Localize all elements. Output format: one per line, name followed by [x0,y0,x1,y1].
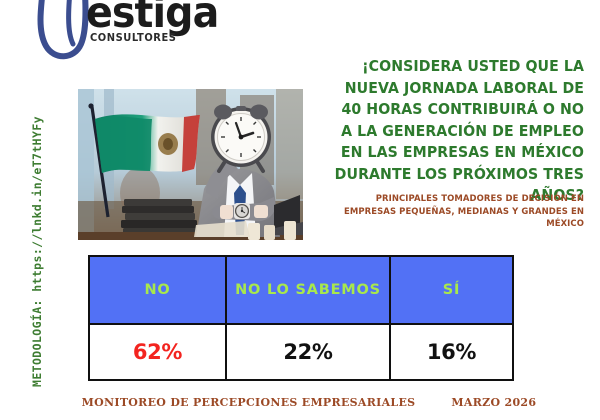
methodology-link[interactable]: METODOLOGÍA: https://lnkd.in/eT7tHYFy [30,137,44,387]
clock-head-businessman-photo [78,89,303,240]
table-row: 62% 22% 16% [90,325,512,379]
table-header-no-lo-sabemos: NO LO SABEMOS [227,257,391,323]
footer: MONITOREO DE PERCEPCIONES EMPRESARIALES … [0,396,600,409]
hero-photo [78,89,303,240]
brand-logo: estiga CONSULTORES [24,0,254,64]
table-value-no: 62% [90,325,227,379]
page-title: ¡CONSIDERA USTED QUE LA NUEVA JORNADA LA… [333,56,584,207]
table-header-no: NO [90,257,227,323]
table-value-no-lo-sabemos: 22% [227,325,391,379]
audience-subtitle: PRINCIPALES TOMADORES DE DECISIÓN EN EMP… [336,193,584,231]
results-table: NO NO LO SABEMOS SÍ 62% 22% 16% [88,255,514,381]
table-header-row: NO NO LO SABEMOS SÍ [90,257,512,325]
infographic-canvas: estiga CONSULTORES METODOLOGÍA: https://… [0,0,600,420]
table-value-si: 16% [391,325,512,379]
footer-series-title: MONITOREO DE PERCEPCIONES EMPRESARIALES [82,396,416,409]
brand-tagline: CONSULTORES [90,31,176,44]
table-header-si: SÍ [391,257,512,323]
footer-date: MARZO 2026 [451,396,536,409]
